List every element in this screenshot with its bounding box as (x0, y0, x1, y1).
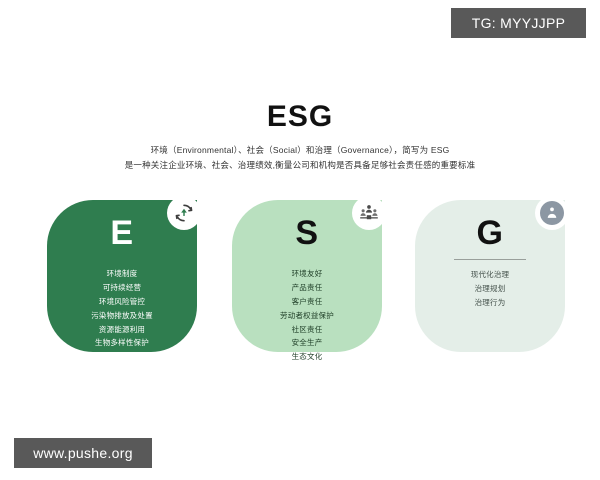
esg-card-governance: G 现代化治理 治理规划 治理行为 (415, 200, 565, 352)
card-letter-e: E (110, 216, 133, 250)
tg-watermark-label: TG: MYYJJPP (472, 15, 566, 31)
governance-person-icon-badge (535, 196, 569, 230)
list-item: 产品责任 (280, 281, 334, 295)
list-item: 环境友好 (280, 267, 334, 281)
card-item-list-e: 环境制度 可持续经营 环境风险管控 污染物排放及处置 资源能源利用 生物多样性保… (91, 267, 153, 364)
list-item: 生态文化 (280, 350, 334, 364)
site-watermark-label: www.pushe.org (33, 445, 133, 461)
list-item: 现代化治理 (471, 268, 510, 282)
esg-card-social: S 环境友好 产品责任 客户责任 劳动者权益保护 社区责任 安全生产 生态文化 (232, 200, 382, 352)
page-title: ESG (0, 100, 600, 133)
subtitle-line-1: 环境（Environmental）、社会（Social）和治理（Governan… (0, 143, 600, 158)
recycle-tree-icon-badge (167, 196, 201, 230)
card-item-list-s: 环境友好 产品责任 客户责任 劳动者权益保护 社区责任 安全生产 生态文化 (280, 267, 334, 364)
list-item: 碳排放管理 (91, 350, 153, 364)
list-item: 环境制度 (91, 267, 153, 281)
list-item: 治理规划 (471, 282, 510, 296)
subtitle-line-2: 是一种关注企业环境、社会、治理绩效,衡量公司和机构是否具备足够社会责任感的重要标… (0, 158, 600, 173)
site-watermark-badge: www.pushe.org (14, 438, 152, 468)
list-item: 污染物排放及处置 (91, 309, 153, 323)
tg-watermark-badge: TG: MYYJJPP (451, 8, 586, 38)
card-letter-s: S (295, 216, 318, 250)
card-divider (454, 259, 526, 260)
card-item-list-g: 现代化治理 治理规划 治理行为 (471, 268, 510, 310)
list-item: 环境风险管控 (91, 295, 153, 309)
esg-card-environmental: E 环境制度 可持续经营 环境风险管控 污染物排放及处置 资源能源利用 生物多样… (47, 200, 197, 352)
recycle-tree-icon (172, 201, 196, 225)
list-item: 安全生产 (280, 336, 334, 350)
list-item: 社区责任 (280, 323, 334, 337)
list-item: 资源能源利用 (91, 323, 153, 337)
esg-cards-row: E 环境制度 可持续经营 环境风险管控 污染物排放及处置 资源能源利用 生物多样… (0, 200, 600, 400)
people-group-icon-badge (352, 196, 386, 230)
people-group-icon (357, 201, 381, 225)
list-item: 客户责任 (280, 295, 334, 309)
list-item: 治理行为 (471, 296, 510, 310)
header: ESG 环境（Environmental）、社会（Social）和治理（Gove… (0, 100, 600, 173)
list-item: 生物多样性保护 (91, 336, 153, 350)
list-item: 可持续经营 (91, 281, 153, 295)
card-letter-g: G (477, 216, 504, 250)
list-item: 劳动者权益保护 (280, 309, 334, 323)
governance-person-icon (540, 201, 564, 225)
